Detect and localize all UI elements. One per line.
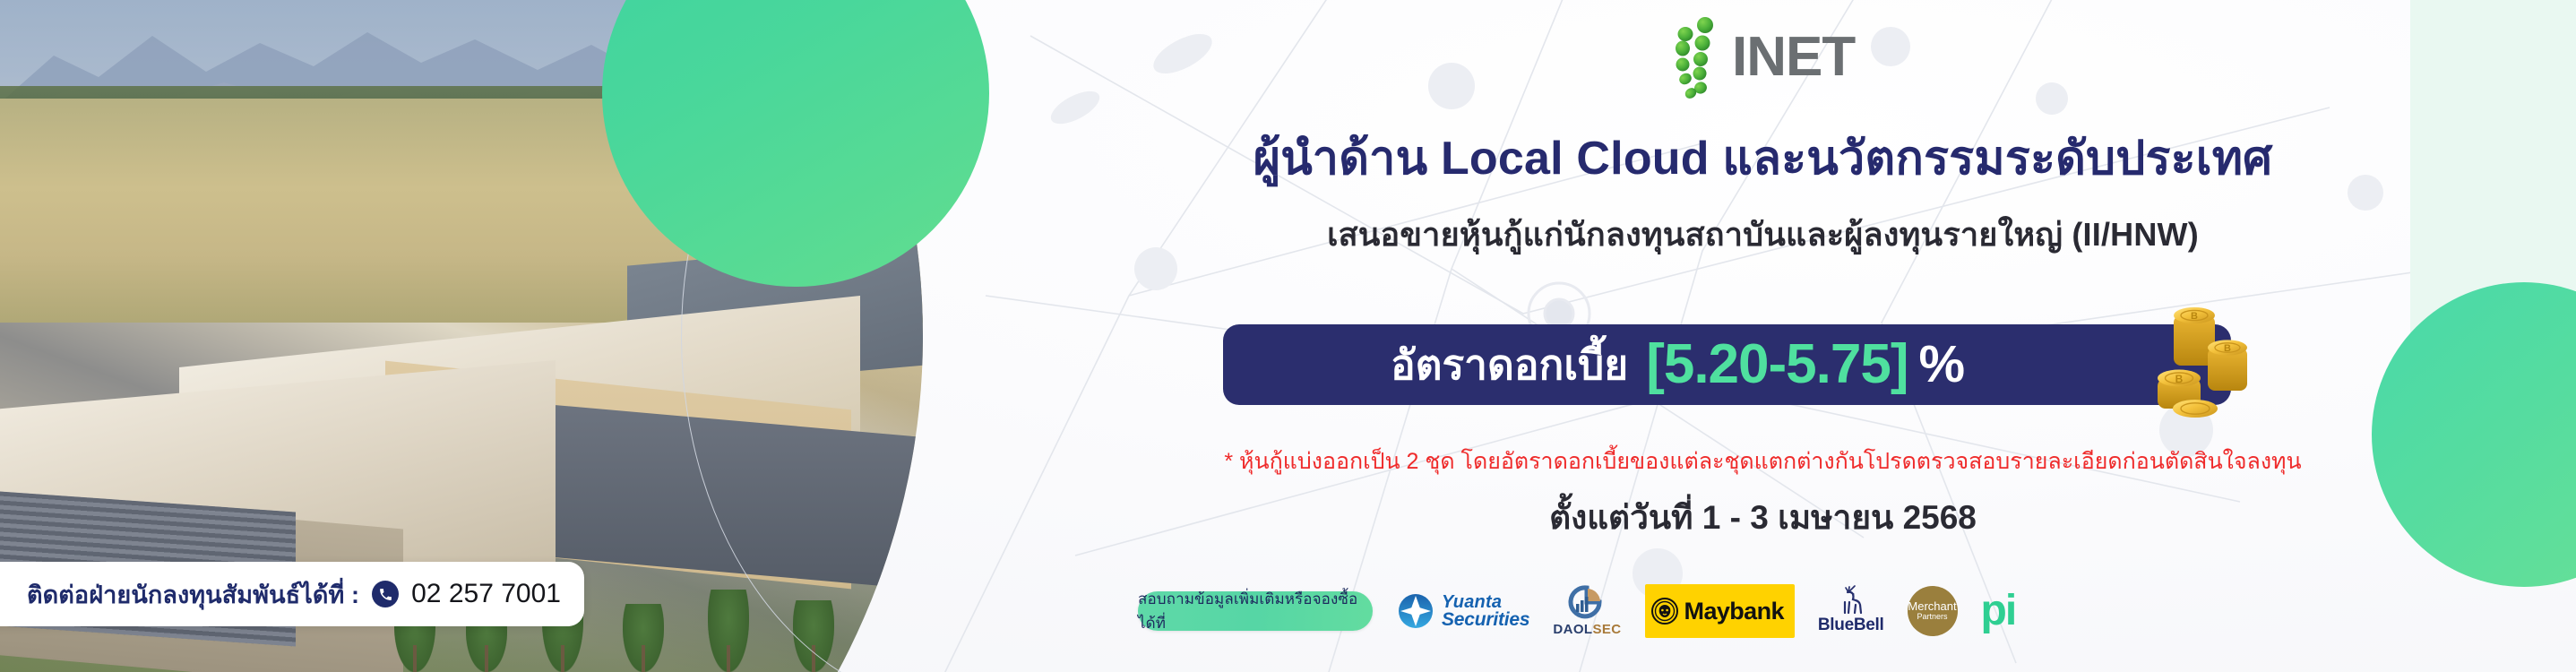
bluebell-wordmark: BlueBell: [1818, 616, 1884, 635]
contact-phone-number: 02 257 7001: [411, 579, 561, 609]
maybank-wordmark: Maybank: [1684, 599, 1784, 624]
daol-label-light: SEC: [1593, 622, 1622, 637]
contact-label: ติดต่อฝ่ายนักลงทุนสัมพันธ์ได้ที่ :: [27, 575, 359, 614]
maybank-tiger-icon: [1651, 598, 1678, 625]
partner-logo-yuanta[interactable]: Yuanta Securities: [1398, 584, 1529, 638]
inet-dots-logo-icon: [1671, 16, 1727, 99]
pi-wordmark: pi: [1981, 594, 2016, 628]
content-column: INET ผู้นำด้าน Local Cloud และนวัตกรรมระ…: [950, 0, 2576, 672]
phone-icon: [372, 581, 399, 607]
merchant-line-1: Merchant: [1908, 600, 1956, 613]
interest-rate-value: [5.20-5.75]: [1646, 337, 1908, 392]
inet-bond-offering-banner: ติดต่อฝ่ายนักลงทุนสัมพันธ์ได้ที่ : 02 25…: [0, 0, 2576, 672]
more-info-cta-button[interactable]: สอบถามข้อมูลเพิ่มเติมหรือจองซื้อได้ที่: [1138, 591, 1373, 631]
cta-and-partners-row: สอบถามข้อมูลเพิ่มเติมหรือจองซื้อได้ที่: [1138, 584, 2522, 638]
daol-label: DAOLSEC: [1553, 622, 1621, 637]
subscription-period: ตั้งแต่วันที่ 1 - 3 เมษายน 2568: [950, 491, 2576, 544]
partner-logo-bluebell[interactable]: BlueBell: [1818, 584, 1884, 638]
offering-disclaimer: * หุ้นกู้แบ่งออกเป็น 2 ชุด โดยอัตราดอกเบ…: [950, 444, 2576, 479]
partner-logo-daol-sec[interactable]: DAOLSEC: [1553, 584, 1621, 638]
yuanta-line-2: Securities: [1442, 611, 1529, 629]
page-headline: ผู้นำด้าน Local Cloud และนวัตกรรมระดับปร…: [950, 133, 2576, 186]
interest-rate-label: อัตราดอกเบี้ย: [1391, 344, 1628, 385]
yuanta-line-1: Yuanta: [1442, 594, 1529, 611]
interest-rate-unit: %: [1918, 339, 1965, 391]
svg-text:B: B: [2175, 373, 2184, 385]
partner-logos: Yuanta Securities DAOLSEC: [1398, 584, 2015, 638]
daol-label-bold: DAOL: [1553, 622, 1592, 637]
yuanta-star-icon: [1398, 593, 1434, 629]
investor-relations-contact-card[interactable]: ติดต่อฝ่ายนักลงทุนสัมพันธ์ได้ที่ : 02 25…: [0, 562, 584, 626]
merchant-line-2: Partners: [1917, 613, 1948, 621]
bluebell-deer-icon: [1835, 584, 1867, 615]
page-subheadline: เสนอขายหุ้นกู้แก่นักลงทุนสถาบันและผู้ลงท…: [950, 215, 2576, 254]
inet-logo: INET: [1671, 16, 1855, 99]
interest-rate-box: อัตราดอกเบี้ย [5.20-5.75] %: [1223, 324, 2231, 405]
partner-logo-merchant-partners[interactable]: Merchant Partners: [1908, 584, 1958, 638]
inet-logo-text: INET: [1732, 30, 1855, 85]
partner-logo-pi[interactable]: pi: [1981, 584, 2016, 638]
svg-text:B: B: [2224, 343, 2231, 354]
partner-logo-maybank[interactable]: Maybank: [1645, 584, 1795, 638]
svg-text:B: B: [2191, 311, 2198, 322]
gold-bitcoin-coins-icon: B B B: [2145, 296, 2262, 430]
merchant-circle-icon: Merchant Partners: [1908, 586, 1958, 636]
daol-pie-icon: [1568, 584, 1606, 620]
